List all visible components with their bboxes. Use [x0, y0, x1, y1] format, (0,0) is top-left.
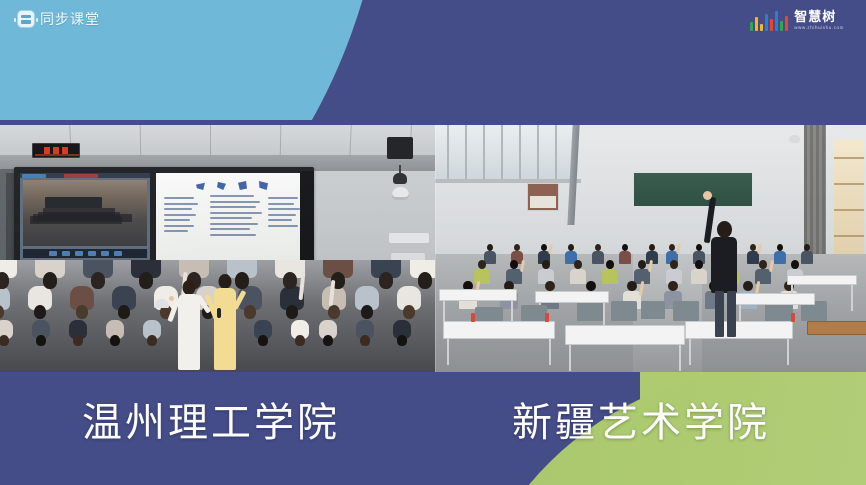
wall-poster — [527, 183, 559, 211]
presenter-2 — [208, 274, 242, 372]
logo-bar-5 — [775, 11, 778, 31]
audience-head — [36, 335, 45, 346]
dome-camera-icon — [789, 135, 800, 143]
front-board-assembly — [14, 167, 314, 267]
student-head — [574, 260, 582, 269]
audience-head — [110, 335, 119, 346]
audience-head — [418, 272, 433, 289]
desk-leg — [569, 345, 571, 371]
side-equipment-upper — [389, 233, 429, 247]
logo-url: www.zhihuishu.com — [794, 24, 844, 31]
screen-root: 同步课堂 智慧树 www.zhihuishu.com — [0, 0, 866, 485]
logo-bar-6 — [780, 21, 783, 31]
student-head — [542, 260, 550, 269]
ptz-camera-lower — [392, 187, 409, 200]
header-bar: 同步课堂 智慧树 www.zhihuishu.com — [0, 0, 866, 48]
student-body — [602, 269, 617, 284]
desk-leg — [447, 339, 449, 365]
chalkboard — [633, 172, 753, 207]
audience-head — [139, 272, 154, 289]
logo-bars-icon — [750, 11, 788, 31]
whiteboard-text-column-2 — [268, 197, 300, 227]
desk — [787, 275, 857, 285]
instructor-hand — [703, 191, 712, 200]
projection-screen — [20, 173, 150, 261]
audience-head — [73, 335, 82, 346]
logo-name: 智慧树 — [794, 10, 836, 24]
feed-audience-row — [43, 208, 115, 216]
student-body — [801, 251, 814, 264]
audience-head — [295, 335, 304, 346]
screen-toolbar — [23, 249, 147, 258]
ptz-camera-upper — [393, 173, 407, 184]
ceiling-speaker — [387, 137, 413, 159]
audience-head — [379, 272, 394, 289]
chair — [577, 301, 603, 321]
audience-head — [118, 305, 130, 319]
clerestory-windows — [435, 125, 575, 181]
student-body — [619, 251, 632, 264]
audience-head — [34, 305, 46, 319]
desk-leg — [689, 339, 691, 365]
student-head — [545, 281, 554, 291]
student-head — [627, 281, 636, 291]
logo-bar-2 — [760, 24, 763, 31]
whiteboard-text-column-0 — [164, 197, 198, 232]
classroom-badge-icon — [18, 11, 34, 27]
desk — [535, 291, 609, 303]
audience-head — [76, 305, 88, 319]
student-head — [606, 260, 614, 269]
audience-head — [323, 335, 332, 346]
student-head — [743, 281, 752, 291]
audience-head — [244, 305, 256, 319]
chair — [611, 301, 637, 321]
instructor-leg-right — [727, 291, 736, 337]
student-head — [759, 260, 767, 269]
whiteboard — [156, 173, 308, 261]
student-head — [668, 281, 677, 291]
water-bottle — [545, 313, 549, 322]
logo-bar-7 — [785, 16, 788, 31]
pane-divider — [435, 125, 436, 372]
caption-left-school: 温州理工学院 — [82, 400, 340, 446]
student-head — [695, 260, 703, 269]
water-bottle — [471, 313, 475, 322]
desk — [443, 321, 555, 339]
logo-bar-3 — [765, 14, 768, 31]
desk — [565, 325, 685, 345]
audience-head — [403, 305, 415, 319]
audience-cap — [154, 299, 169, 308]
wood-podium — [807, 321, 866, 335]
desk — [735, 293, 815, 305]
student-body — [570, 269, 585, 284]
brand: 同步课堂 — [18, 11, 100, 27]
instructor-torso — [711, 237, 737, 293]
water-bottle — [791, 313, 795, 322]
audience-head — [328, 305, 340, 319]
audience-head — [286, 305, 298, 319]
instructor-head — [717, 221, 732, 238]
presenter-1 — [172, 280, 206, 372]
logo-bar-0 — [750, 22, 753, 31]
student-head — [586, 281, 595, 291]
audience-head — [283, 272, 298, 289]
student-body — [691, 269, 706, 284]
student-body — [592, 251, 605, 264]
desk-leg — [679, 345, 681, 371]
desk-leg — [851, 285, 853, 311]
chair — [673, 301, 699, 321]
audience-head — [0, 335, 9, 346]
audience-head — [43, 272, 58, 289]
audience-head — [147, 335, 156, 346]
student-head — [478, 260, 486, 269]
video-strip — [0, 125, 866, 372]
chair — [641, 301, 665, 319]
logo-wordmark: 智慧树 www.zhihuishu.com — [794, 10, 844, 31]
logo-bar-4 — [770, 19, 773, 31]
audience-head — [258, 335, 267, 346]
audience-head — [361, 305, 373, 319]
brand-label: 同步课堂 — [40, 11, 100, 27]
audience-head — [397, 335, 406, 346]
left-board-edge — [300, 171, 314, 263]
instructor-leg-left — [715, 291, 724, 337]
audience-head — [360, 335, 369, 346]
window-sill — [435, 179, 581, 183]
audience-head — [91, 272, 106, 289]
video-pane-right[interactable] — [435, 125, 866, 372]
led-sign — [32, 143, 80, 158]
desk — [439, 289, 517, 301]
bright-window — [834, 139, 864, 257]
whiteboard-text-column-1 — [210, 195, 262, 236]
desk — [685, 321, 793, 339]
student-head — [638, 260, 646, 269]
student-body — [774, 251, 787, 264]
remote-classroom-feed — [23, 180, 147, 246]
desk-leg — [787, 339, 789, 365]
logo-bar-1 — [755, 17, 758, 31]
caption-right-school: 新疆艺术学院 — [512, 400, 770, 446]
student-head — [670, 260, 678, 269]
student-head — [791, 260, 799, 269]
zhihuishu-logo: 智慧树 www.zhihuishu.com — [750, 10, 844, 31]
desk-leg — [549, 339, 551, 365]
video-pane-left[interactable] — [0, 125, 435, 372]
student-head — [510, 260, 518, 269]
